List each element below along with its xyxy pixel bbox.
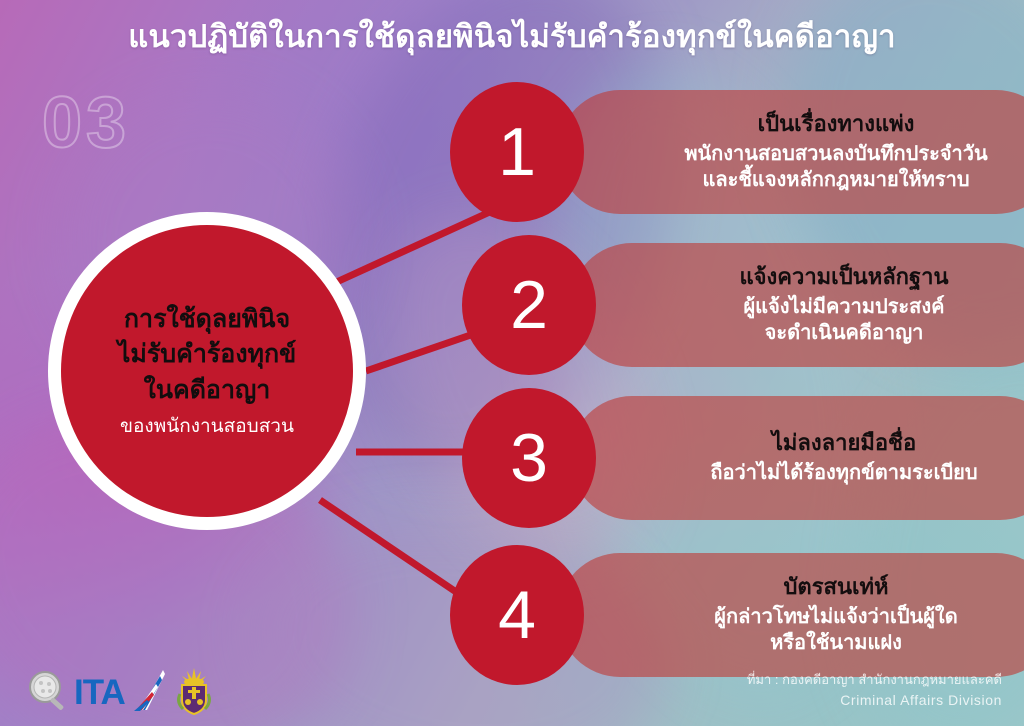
item-body-line-2: หรือใช้นามแฝง [770, 630, 902, 657]
logo-group: ITA [24, 666, 215, 718]
hub-line-3: ในคดีอาญา [118, 373, 296, 409]
hub-subtitle: ของพนักงานสอบสวน [120, 415, 294, 440]
item-pill: เป็นเรื่องทางแพ่ง พนักงานสอบสวนลงบันทึกป… [558, 90, 1024, 214]
item-heading: เป็นเรื่องทางแพ่ง [758, 110, 915, 139]
item-body-line-1: ผู้แจ้งไม่มีความประสงค์ [743, 294, 944, 321]
item-body-line-2: และชี้แจงหลักกฎหมายให้ทราบ [702, 167, 969, 194]
item-pill: บัตรสนเท่ห์ ผู้กล่าวโทษไม่แจ้งว่าเป็นผู้… [558, 553, 1024, 677]
item-number-bubble: 4 [450, 545, 584, 685]
thai-flag-swoosh-icon [129, 668, 169, 716]
item-number-bubble: 1 [450, 82, 584, 222]
ita-logo-text: ITA [74, 675, 125, 710]
source-line-1: ที่มา : กองคดีอาญา สำนักงานกฎหมายและคดี [747, 671, 1002, 690]
hub-line-2: ไม่รับคำร้องทุกข์ [118, 337, 296, 373]
item-body-line-1: พนักงานสอบสวนลงบันทึกประจำวัน [684, 141, 987, 168]
item-pill: แจ้งความเป็นหลักฐาน ผู้แจ้งไม่มีความประส… [570, 243, 1024, 367]
item-heading: แจ้งความเป็นหลักฐาน [739, 263, 948, 292]
royal-thai-police-crest-icon [173, 666, 215, 718]
source-line-2: Criminal Affairs Division [747, 690, 1002, 710]
item-pill: ไม่ลงลายมือชื่อ ถือว่าไม่ได้ร้องทุกข์ตาม… [570, 396, 1024, 520]
item-heading: ไม่ลงลายมือชื่อ [772, 429, 916, 458]
item-number-bubble: 3 [462, 388, 596, 528]
item-heading: บัตรสนเท่ห์ [783, 573, 888, 602]
magnifier-emblem-icon [24, 668, 70, 716]
item-body-line-2: จะดำเนินคดีอาญา [765, 320, 924, 347]
item-number-bubble: 2 [462, 235, 596, 375]
central-hub: การใช้ดุลยพินิจ ไม่รับคำร้องทุกข์ ในคดีอ… [48, 212, 366, 530]
item-body-line-1: ถือว่าไม่ได้ร้องทุกข์ตามระเบียบ [710, 460, 977, 487]
hub-line-1: การใช้ดุลยพินิจ [118, 302, 296, 338]
source-credit: ที่มา : กองคดีอาญา สำนักงานกฎหมายและคดี … [747, 671, 1002, 710]
item-body-line-1: ผู้กล่าวโทษไม่แจ้งว่าเป็นผู้ใด [714, 604, 957, 631]
infographic-canvas: แนวปฏิบัติในการใช้ดุลยพินิจไม่รับคำร้องท… [0, 0, 1024, 726]
